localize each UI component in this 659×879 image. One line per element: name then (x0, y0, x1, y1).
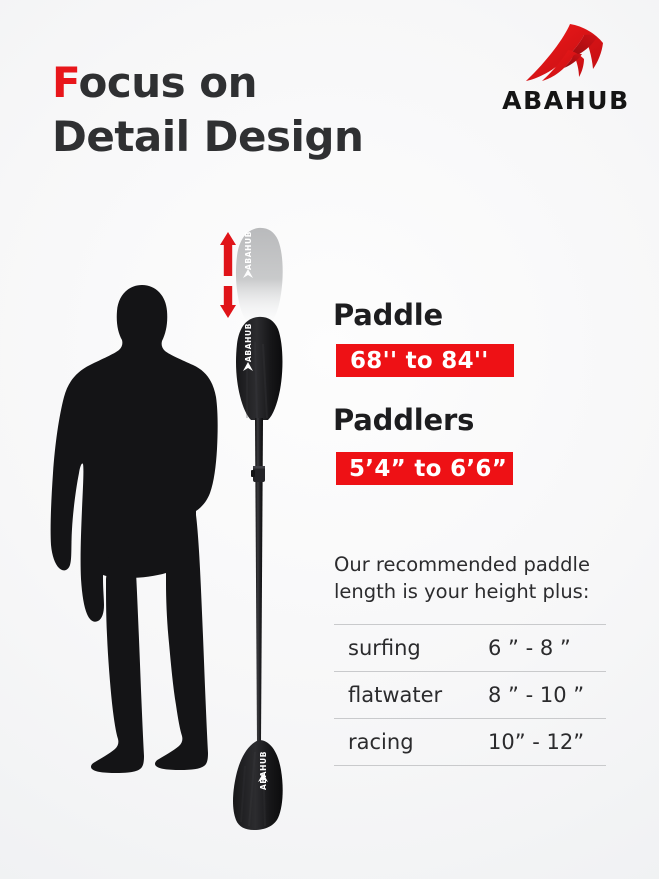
spec-badge-paddle-length: 68'' to 84'' (336, 344, 514, 377)
upper-blade-brand: ABAHUB (244, 323, 253, 362)
activity-name: surfing (334, 625, 488, 672)
upper-blade: ABAHUB (236, 317, 282, 420)
table-row: flatwater 8 ” - 10 ” (334, 672, 606, 719)
arrow-down-icon (220, 286, 236, 318)
spec-badge-paddler-height: 5’4” to 6’6” (336, 452, 513, 485)
activity-added-length: 10” - 12” (488, 719, 606, 766)
brand-logo: ABAHUB (492, 22, 640, 115)
activity-name: flatwater (334, 672, 488, 719)
recommendation-note: Our recommended paddle length is your he… (334, 552, 624, 606)
arrow-up-icon (220, 232, 236, 276)
abahub-swoosh-logo-icon (518, 22, 614, 84)
spec-title-paddlers: Paddlers (333, 403, 474, 437)
table-row: surfing 6 ” - 8 ” (334, 625, 606, 672)
activity-added-length: 6 ” - 8 ” (488, 625, 606, 672)
page-title: Focus on Detail Design (52, 56, 363, 164)
shaft-adjustment-collar (251, 466, 265, 482)
infographic-page: Focus on Detail Design ABAHUB (0, 0, 659, 879)
activity-added-length: 8 ” - 10 ” (488, 672, 606, 719)
page-title-rest: ocus on Detail Design (52, 58, 363, 161)
page-title-accent-letter: F (52, 58, 79, 107)
brand-wordmark: ABAHUB (492, 86, 640, 115)
recommendation-table: surfing 6 ” - 8 ” flatwater 8 ” - 10 ” r… (334, 624, 606, 766)
activity-name: racing (334, 719, 488, 766)
table-row: racing 10” - 12” (334, 719, 606, 766)
paddle-adjust-arrows (214, 226, 248, 322)
spec-title-paddle: Paddle (333, 298, 443, 332)
lower-blade: ABAHUB (233, 740, 283, 830)
lower-blade-brand: ABAHUB (259, 751, 268, 790)
